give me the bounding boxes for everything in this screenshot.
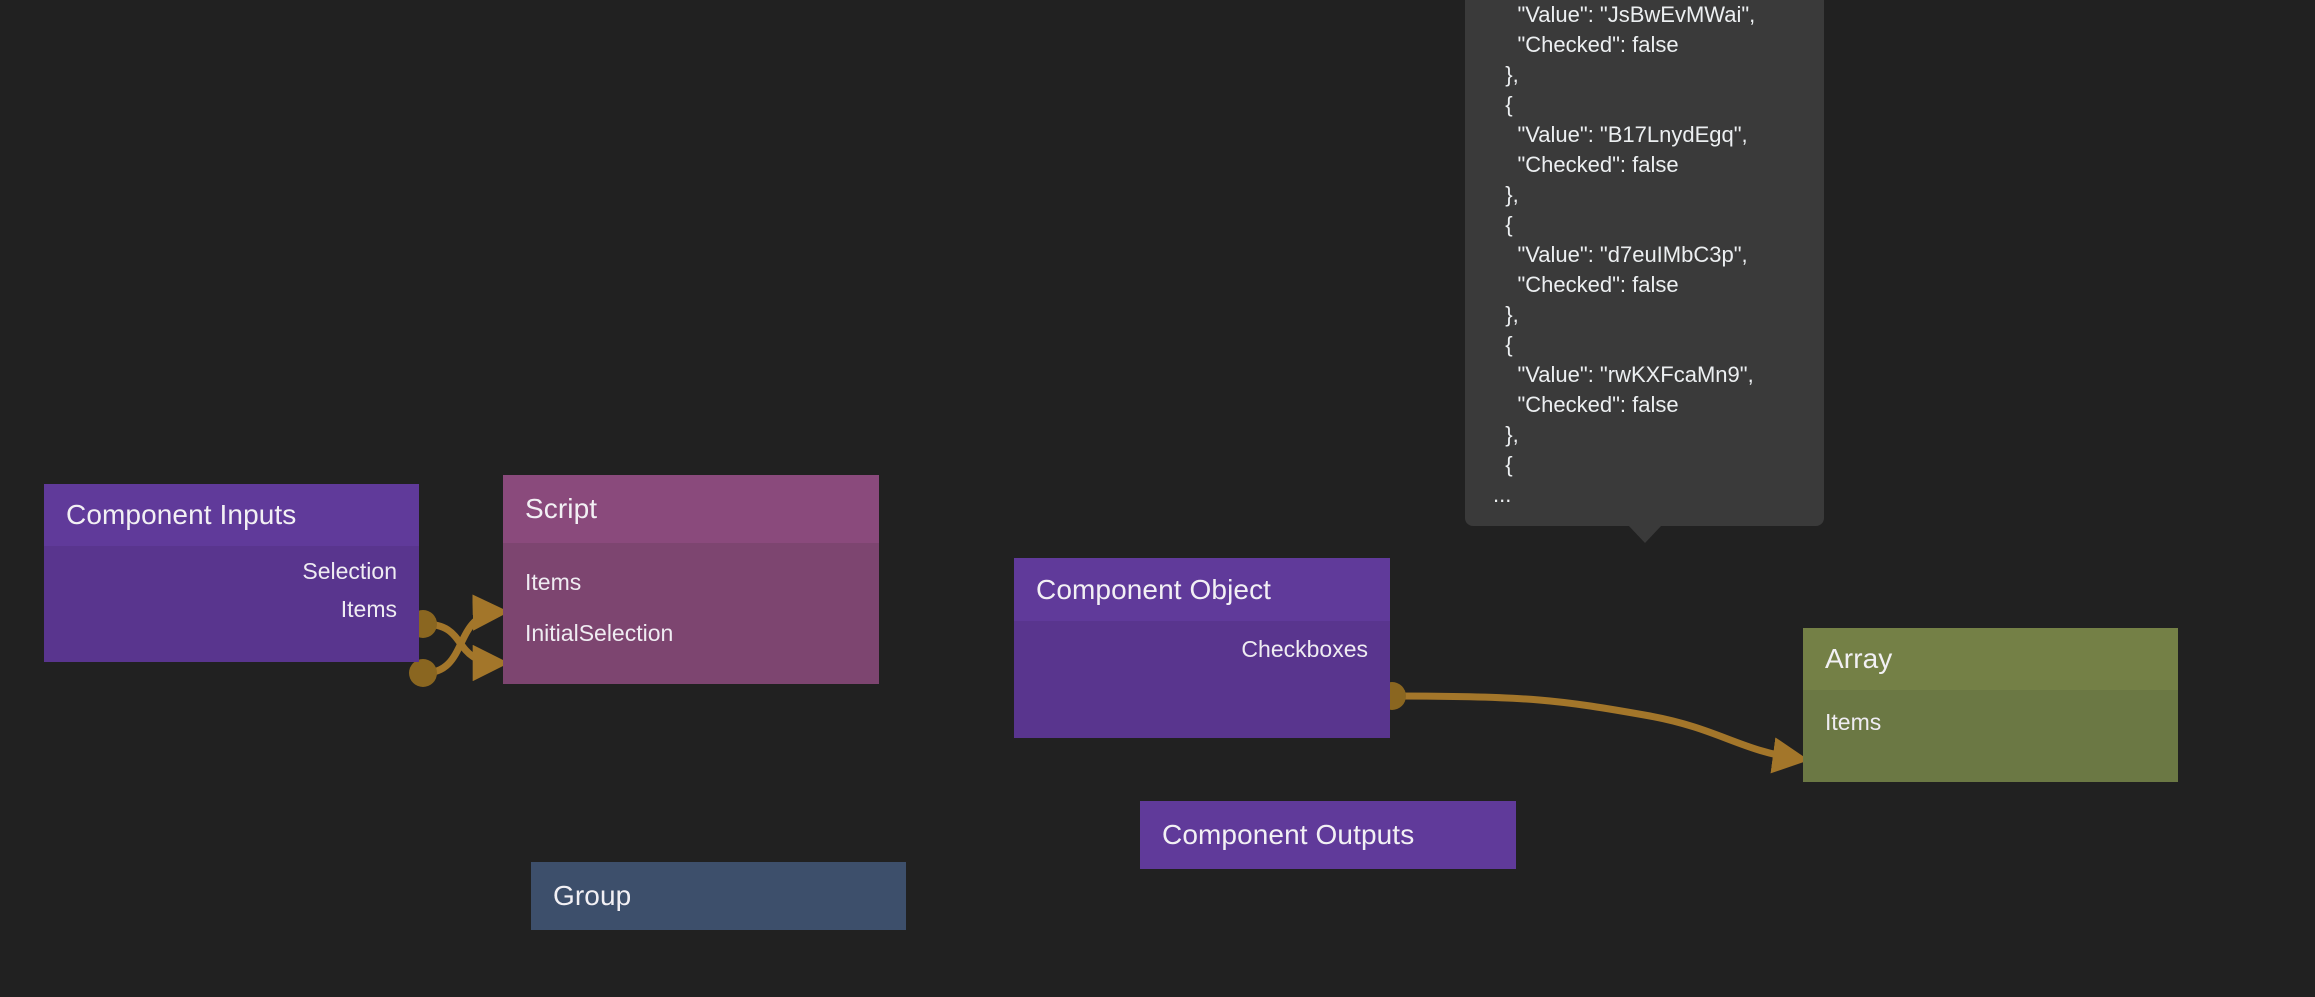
port-label-script-initialselection: InitialSelection <box>525 622 673 645</box>
tooltip-pointer-icon <box>1628 525 1662 543</box>
port-label-selection: Selection <box>302 560 397 583</box>
port-array-items[interactable]: Items <box>1803 702 2178 742</box>
node-body-component-inputs: Selection Items <box>44 546 419 662</box>
port-label-array-items: Items <box>1825 711 1881 734</box>
port-label-script-items: Items <box>525 571 581 594</box>
port-checkboxes[interactable]: Checkboxes <box>1014 629 1390 669</box>
node-graph-canvas[interactable]: Component Inputs Selection Items Script … <box>0 0 2315 997</box>
node-body-array: Items <box>1803 690 2178 782</box>
port-script-initialselection[interactable]: InitialSelection <box>503 608 879 659</box>
edge-items-to-items <box>424 612 500 673</box>
node-component-outputs[interactable]: Component Outputs <box>1140 801 1516 869</box>
port-selection[interactable]: Selection <box>44 552 419 590</box>
port-knob-items[interactable] <box>409 659 437 687</box>
node-title-component-outputs: Component Outputs <box>1140 801 1516 869</box>
node-group[interactable]: Group <box>531 862 906 930</box>
port-script-items[interactable]: Items <box>503 557 879 608</box>
node-component-inputs[interactable]: Component Inputs Selection Items <box>44 484 419 662</box>
node-array[interactable]: Array Items <box>1803 628 2178 782</box>
edge-selection-to-initialselection <box>424 624 500 663</box>
node-title-component-object: Component Object <box>1014 558 1390 621</box>
node-title-script: Script <box>503 475 879 543</box>
port-items[interactable]: Items <box>44 590 419 628</box>
node-title-group: Group <box>531 862 906 930</box>
edge-checkboxes-to-array-items <box>1394 696 1800 759</box>
node-title-array: Array <box>1803 628 2178 690</box>
json-tooltip-text: "Checked": false }, { "Value": "ii78Wf2J… <box>1465 0 1824 510</box>
node-body-component-object: Checkboxes <box>1014 621 1390 738</box>
node-component-object[interactable]: Component Object Checkboxes <box>1014 558 1390 738</box>
json-value-tooltip: "Checked": false }, { "Value": "ii78Wf2J… <box>1465 0 1824 526</box>
node-title-component-inputs: Component Inputs <box>44 484 419 546</box>
port-label-checkboxes: Checkboxes <box>1241 638 1368 661</box>
node-script[interactable]: Script Items InitialSelection <box>503 475 879 684</box>
node-body-script: Items InitialSelection <box>503 543 879 684</box>
port-label-items: Items <box>341 598 397 621</box>
